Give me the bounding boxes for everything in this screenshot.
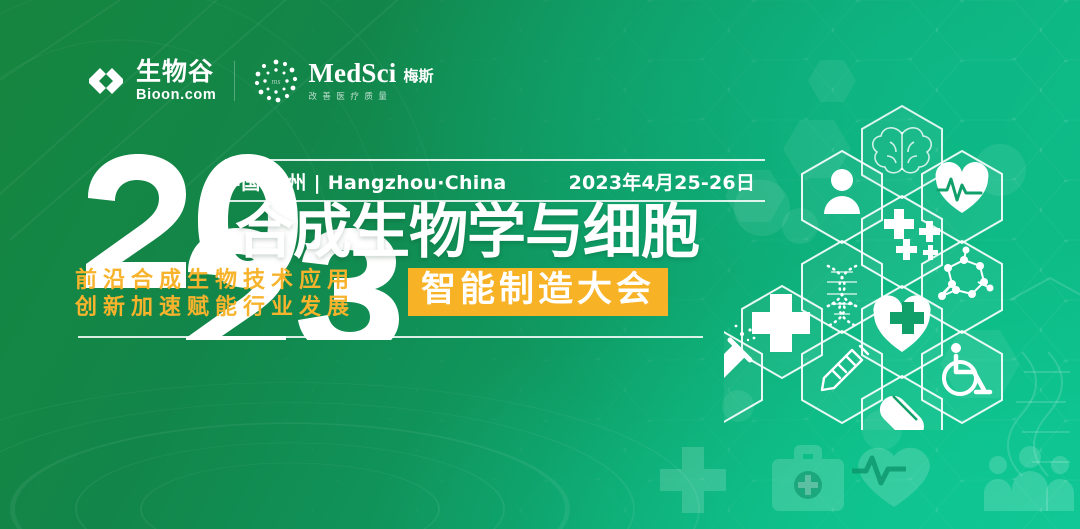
event-location: 中国·杭州 | Hangzhou·China: [222, 168, 507, 195]
medsci-cn-name: 梅斯: [404, 69, 434, 87]
logo-bar: 生物谷 Bioon.com ms: [86, 58, 434, 104]
medsci-en-name: MedSci: [308, 60, 396, 87]
bottom-watermark-icons: [560, 419, 1080, 529]
doctors-group-watermark-icon: [984, 446, 1074, 511]
event-meta-row: 中国·杭州 | Hangzhou·China 2023年4月25-26日: [222, 162, 767, 200]
rule-bottom: [78, 336, 703, 338]
logo-divider: [234, 61, 235, 101]
conference-banner: 生物谷 Bioon.com ms: [0, 0, 1080, 529]
bioon-en-name: Bioon.com: [136, 88, 216, 103]
bioon-cn-name: 生物谷: [136, 59, 216, 84]
event-subtitle-badge: 智能制造大会: [408, 268, 668, 316]
bioon-logo[interactable]: 生物谷 Bioon.com: [86, 59, 216, 103]
cross-watermark-icon: [660, 447, 726, 513]
medsci-dot-circle-icon: ms: [253, 58, 299, 104]
bioon-pinwheel-icon: [86, 61, 126, 101]
medsci-tagline: 改善医疗质量: [308, 93, 433, 102]
medical-bag-watermark-icon: [772, 445, 844, 511]
event-subtitle: 智能制造大会: [421, 273, 655, 308]
rule-above-date: [225, 159, 765, 161]
title-block: 中国·杭州 | Hangzhou·China 2023年4月25-26日 合成生…: [70, 150, 720, 350]
event-headline: 合成生物学与细胞: [235, 202, 699, 261]
medsci-logo[interactable]: ms MedSci 梅斯 改善医疗质量: [253, 58, 433, 104]
heartbeat-watermark-icon: [852, 448, 930, 507]
hexagon-icon-cluster: [724, 100, 1080, 430]
svg-text:ms: ms: [272, 77, 281, 86]
event-slogan: 前沿合成生物技术应用 创新加速赋能行业发展: [75, 268, 355, 322]
slogan-line-1: 前沿合成生物技术应用: [75, 268, 355, 295]
slogan-line-2: 创新加速赋能行业发展: [75, 295, 355, 322]
